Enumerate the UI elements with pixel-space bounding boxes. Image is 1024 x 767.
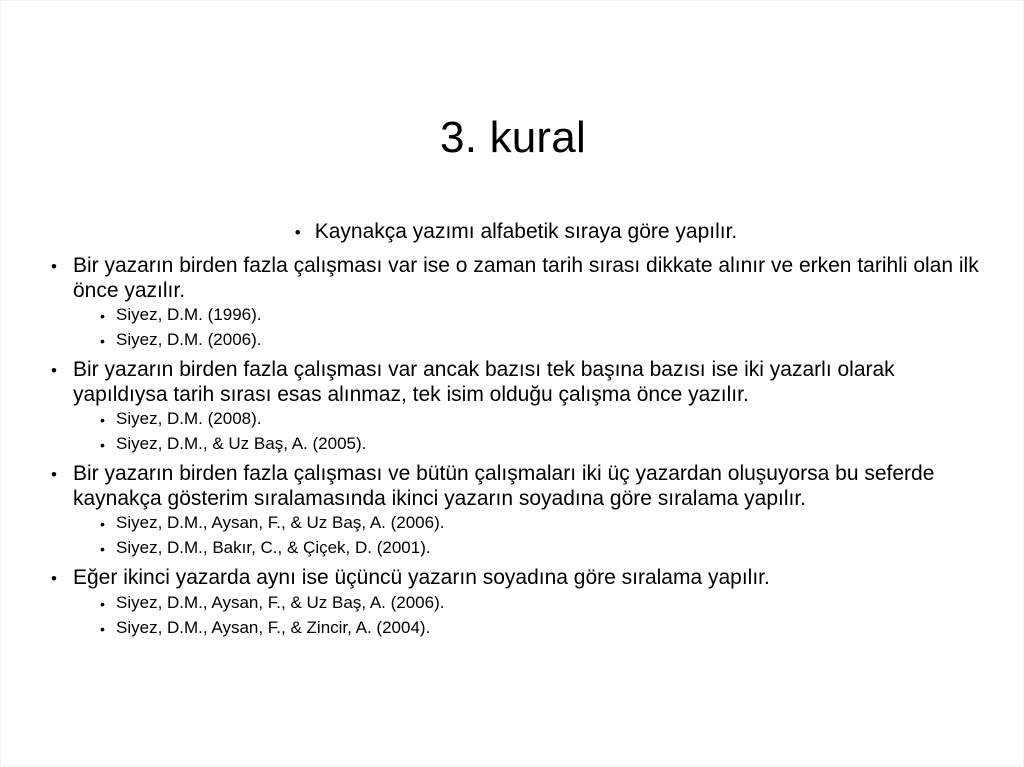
reference-text: Siyez, D.M., Bakır, C., & Çiçek, D. (200… [116, 536, 981, 560]
list-item-text: Eğer ikinci yazarda aynı ise üçüncü yaza… [73, 565, 981, 590]
list-item: • Siyez, D.M., & Uz Baş, A. (2005). [100, 432, 981, 457]
bullet-icon: • [100, 328, 116, 353]
list-item: • Siyez, D.M. (2008). [100, 407, 981, 432]
bullet-icon: • [295, 219, 315, 245]
slide-body: • Kaynakça yazımı alfabetik sıraya göre … [51, 219, 981, 641]
list-item-text: Bir yazarın birden fazla çalışması var a… [73, 357, 981, 407]
bullet-icon: • [51, 461, 73, 487]
reference-text: Siyez, D.M. (2006). [116, 328, 981, 352]
list-item: • Kaynakça yazımı alfabetik sıraya göre … [51, 219, 981, 245]
reference-text: Siyez, D.M., Aysan, F., & Zincir, A. (20… [116, 616, 981, 640]
bullet-icon: • [100, 432, 116, 457]
list-item-text: Bir yazarın birden fazla çalışması ve bü… [73, 461, 981, 511]
reference-text: Siyez, D.M. (1996). [116, 303, 981, 327]
list-item: • Siyez, D.M., Aysan, F., & Zincir, A. (… [100, 616, 981, 641]
list-item-text: Bir yazarın birden fazla çalışması var i… [73, 253, 981, 303]
reference-text: Siyez, D.M., Aysan, F., & Uz Baş, A. (20… [116, 511, 981, 535]
list-item: • Siyez, D.M., Bakır, C., & Çiçek, D. (2… [100, 536, 981, 561]
bullet-icon: • [51, 253, 73, 279]
reference-text: Siyez, D.M., & Uz Baş, A. (2005). [116, 432, 981, 456]
bullet-icon: • [100, 536, 116, 561]
bullet-icon: • [100, 616, 116, 641]
list-item: • Siyez, D.M., Aysan, F., & Uz Baş, A. (… [100, 591, 981, 616]
list-item: • Bir yazarın birden fazla çalışması var… [51, 357, 981, 407]
list-item: • Siyez, D.M., Aysan, F., & Uz Baş, A. (… [100, 511, 981, 536]
bullet-icon: • [100, 591, 116, 616]
page-title: 3. kural [1, 112, 1024, 164]
list-item: • Eğer ikinci yazarda aynı ise üçüncü ya… [51, 565, 981, 591]
slide-canvas: 3. kural • Kaynakça yazımı alfabetik sır… [0, 0, 1024, 767]
reference-text: Siyez, D.M., Aysan, F., & Uz Baş, A. (20… [116, 591, 981, 615]
bullet-icon: • [51, 357, 73, 383]
bullet-icon: • [100, 303, 116, 328]
bullet-icon: • [100, 407, 116, 432]
list-item: • Siyez, D.M. (1996). [100, 303, 981, 328]
list-item: • Bir yazarın birden fazla çalışması var… [51, 253, 981, 303]
list-item: • Siyez, D.M. (2006). [100, 328, 981, 353]
list-item-text: Kaynakça yazımı alfabetik sıraya göre ya… [315, 219, 738, 244]
bullet-icon: • [51, 565, 73, 591]
bullet-icon: • [100, 511, 116, 536]
list-item: • Bir yazarın birden fazla çalışması ve … [51, 461, 981, 511]
reference-text: Siyez, D.M. (2008). [116, 407, 981, 431]
